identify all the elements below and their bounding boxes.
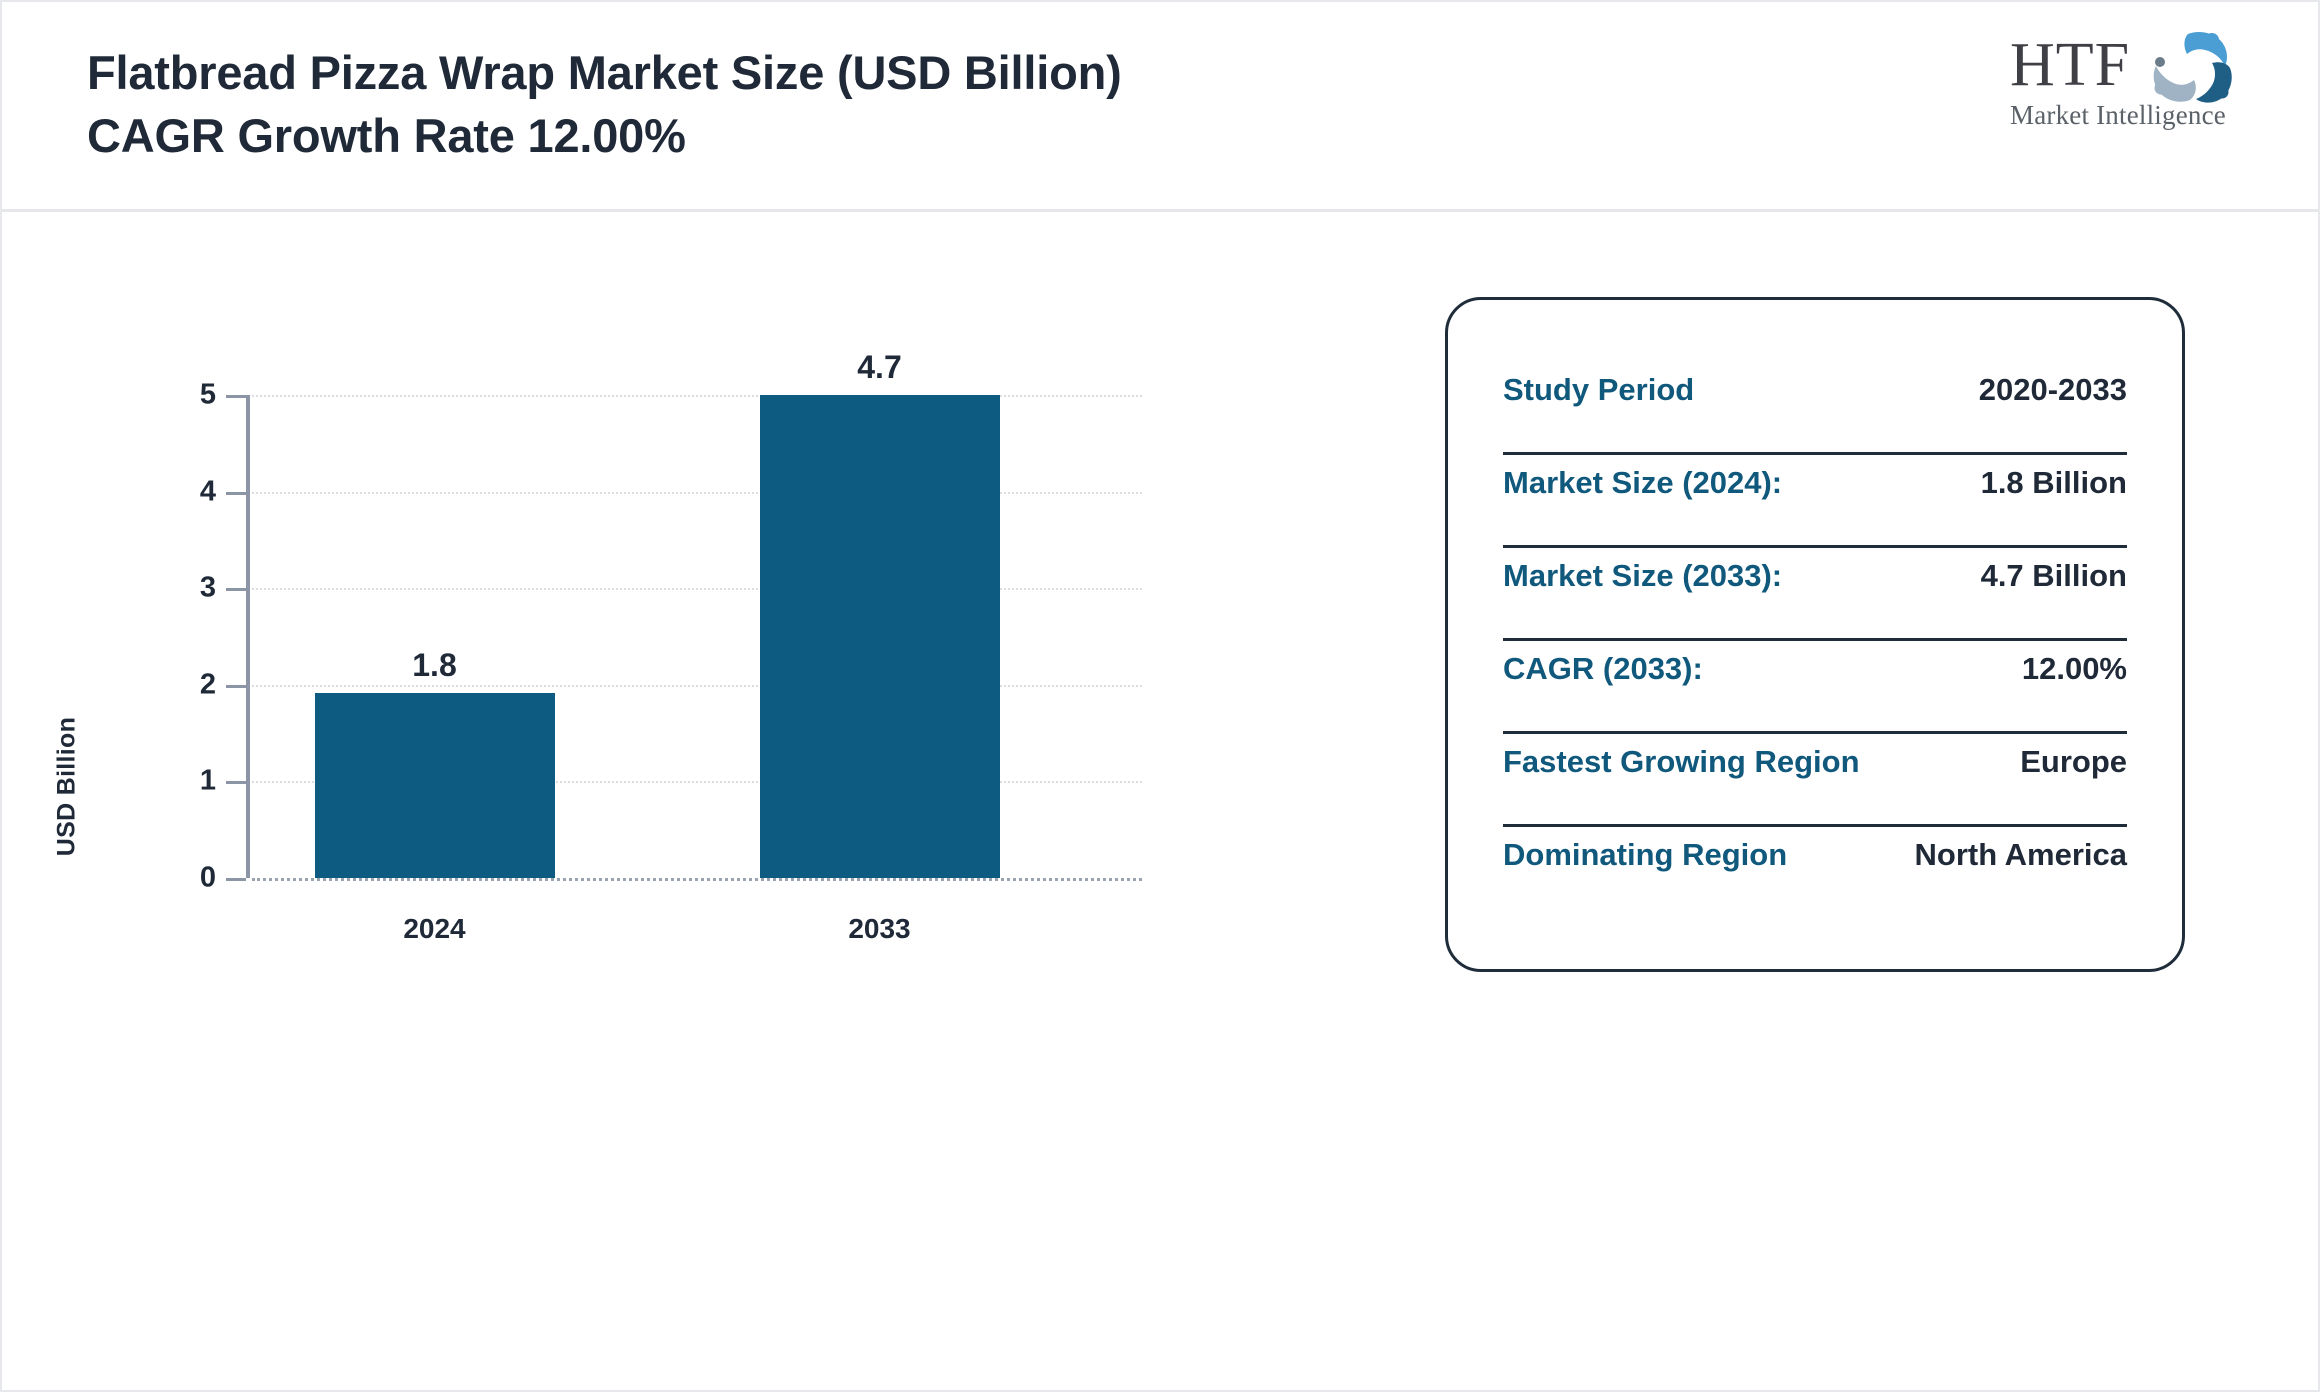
gridline [252,395,1142,397]
bar-value-label: 1.8 [315,647,555,684]
x-tick-label: 2024 [315,913,555,945]
logo-wordmark: HTF [2010,34,2130,96]
card-row: Market Size (2024):1.8 Billion [1503,455,2127,548]
plot-area: 012345 1.84.7 20242033 [252,395,1142,878]
card-row-label: Study Period [1503,372,1694,408]
card-row: Dominating RegionNorth America [1503,827,2127,920]
y-axis-spine [246,395,250,878]
card-row-value: 12.00% [2022,651,2127,687]
y-tick-label: 3 [168,572,216,605]
card-row-value: 4.7 Billion [1981,558,2127,594]
logo-mark: HTF [2010,32,2240,106]
y-tick-label: 5 [168,379,216,412]
card-row-label: CAGR (2033): [1503,651,1703,687]
title-line-1: Flatbread Pizza Wrap Market Size (USD Bi… [87,42,1587,105]
bar-value-label: 4.7 [760,349,1000,386]
market-summary-card: Study Period2020-2033Market Size (2024):… [1445,297,2185,972]
card-row-value: 2020-2033 [1979,372,2127,408]
htf-logo: HTF Market Intelligence [2010,32,2240,142]
card-row-value: 1.8 Billion [1981,465,2127,501]
y-tick-mark [226,395,246,398]
logo-tagline: Market Intelligence [2010,100,2240,131]
card-row-value: Europe [2020,744,2127,780]
title-line-2: CAGR Growth Rate 12.00% [87,105,1587,168]
card-row-label: Fastest Growing Region [1503,744,1860,780]
chart-page: Flatbread Pizza Wrap Market Size (USD Bi… [0,0,2320,1392]
gridline [252,588,1142,590]
bar-2033[interactable] [760,395,1000,878]
y-tick-label: 4 [168,475,216,508]
card-row-label: Market Size (2024): [1503,465,1782,501]
card-row: CAGR (2033):12.00% [1503,641,2127,734]
y-axis-label: USD Billion [53,667,82,907]
y-tick-mark [226,492,246,495]
card-row-label: Market Size (2033): [1503,558,1782,594]
card-row: Study Period2020-2033 [1503,362,2127,455]
bar-chart: USD Billion 012345 1.84.7 20242033 [2,212,1322,1392]
y-tick-label: 2 [168,668,216,701]
page-title: Flatbread Pizza Wrap Market Size (USD Bi… [87,42,1587,167]
gridline [252,685,1142,687]
gridline [252,492,1142,494]
y-tick-mark [226,685,246,688]
y-tick-mark [226,781,246,784]
card-row-value: North America [1915,837,2127,873]
swirl-figures-icon [2126,28,2238,108]
y-tick-label: 0 [168,862,216,895]
card-row-label: Dominating Region [1503,837,1787,873]
page-header: Flatbread Pizza Wrap Market Size (USD Bi… [2,2,2318,212]
bar-2024[interactable] [315,693,555,878]
card-row: Fastest Growing RegionEurope [1503,734,2127,827]
y-tick-mark [226,588,246,591]
gridline [252,878,1142,881]
card-row: Market Size (2033):4.7 Billion [1503,548,2127,641]
y-tick-label: 1 [168,765,216,798]
y-tick-mark [226,878,246,881]
x-tick-label: 2033 [760,913,1000,945]
